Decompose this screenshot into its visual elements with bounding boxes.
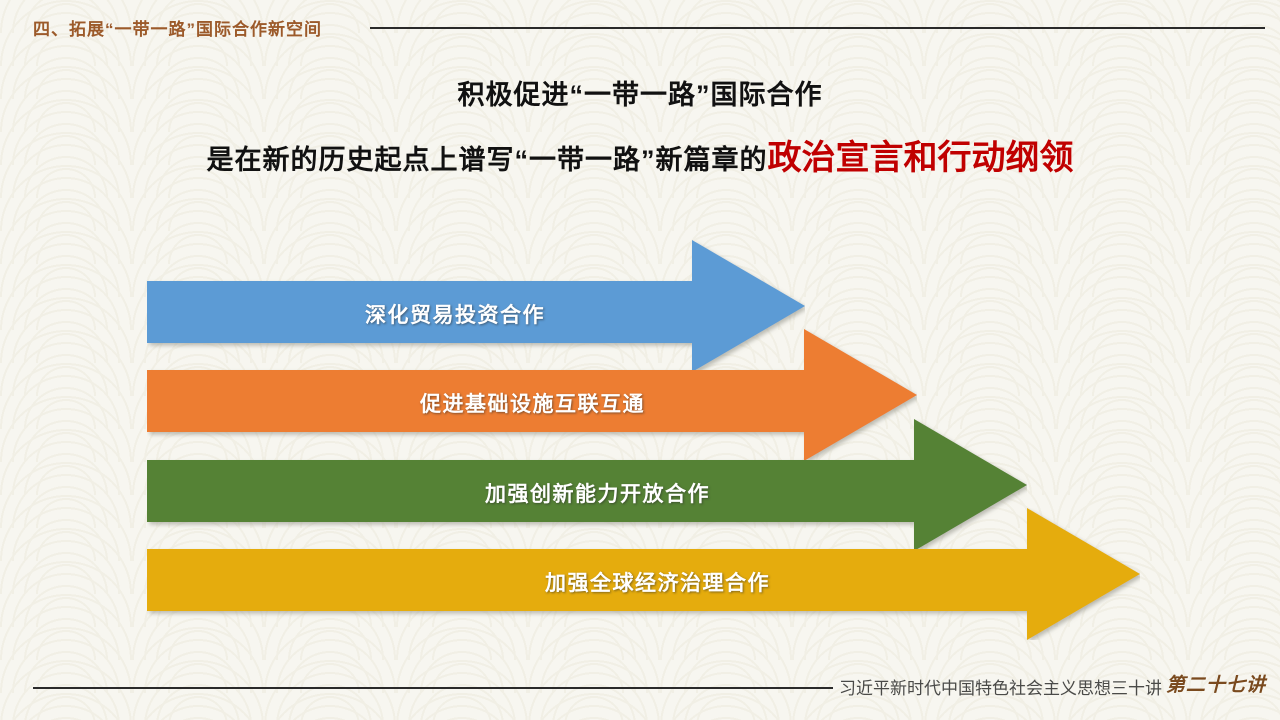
footer-book-title: 习近平新时代中国特色社会主义思想三十讲 <box>839 674 1162 699</box>
slide-footer: 习近平新时代中国特色社会主义思想三十讲 第二十七讲 <box>0 660 1280 720</box>
footer-divider-line <box>33 687 833 689</box>
arrow-diagram: 深化贸易投资合作促进基础设施互联互通加强创新能力开放合作加强全球经济治理合作 <box>0 0 1280 720</box>
arrow-label: 深化贸易投资合作 <box>365 299 545 329</box>
footer-lecture-number: 第二十七讲 <box>1166 670 1266 697</box>
arrow-label: 加强全球经济治理合作 <box>545 567 770 597</box>
arrow-label: 促进基础设施互联互通 <box>420 388 645 418</box>
arrow-label: 加强创新能力开放合作 <box>485 478 710 508</box>
